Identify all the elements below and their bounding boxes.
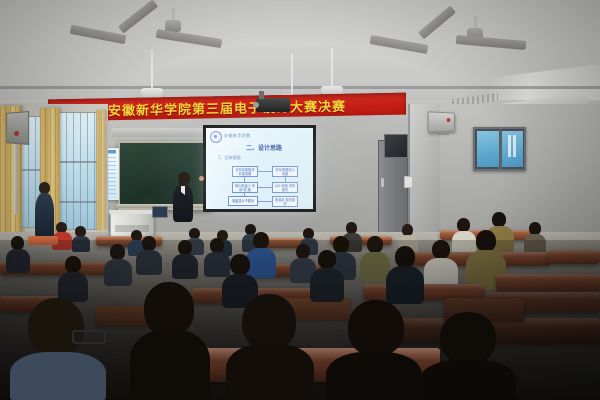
slide-block: 液晶显示子模块: [228, 196, 258, 206]
slide-arrow: [258, 201, 272, 202]
chalkboard: [118, 141, 213, 210]
slide-block: 电源及 稳压模块: [272, 196, 298, 207]
slide-surface: 安徽新华学院 二、设计思路 1、总体框图 信号采集模块 前端电路 信号调理放大电…: [206, 128, 313, 209]
slide-org-name: 安徽新华学院: [224, 133, 250, 139]
slide-title: 二、设计思路: [246, 143, 282, 152]
slide-arrow: [258, 187, 272, 188]
eyeglasses-icon: [72, 330, 106, 344]
door-window: [384, 134, 408, 158]
wall-speaker-bracket: [437, 131, 449, 135]
slide-block: 信号调理放大电路: [272, 166, 298, 177]
classroom-photo: 安徽新华学院第三届电子设计大赛决赛 安徽新华学院 二、设计思路 1、总体框图 信…: [0, 0, 600, 400]
slide-block: A/D 转换 采样模块: [272, 182, 298, 193]
foreground-attendee: [326, 300, 422, 400]
slide-arrow: [258, 171, 272, 172]
wall-pipe: [14, 144, 18, 214]
event-banner-text: 安徽新华学院第三届电子设计大赛决赛: [108, 95, 346, 119]
foreground-attendee: [10, 298, 106, 400]
presenter: [172, 172, 198, 222]
projection-screen: 安徽新华学院 二、设计思路 1、总体框图 信号采集模块 前端电路 信号调理放大电…: [203, 125, 316, 212]
door-handle[interactable]: [381, 178, 384, 187]
foreground-attendee: [226, 294, 314, 400]
slide-subtitle: 1、总体框图: [218, 155, 241, 161]
foreground-attendee: [130, 282, 210, 400]
slide-arrow: [244, 193, 245, 196]
projector-icon: [256, 98, 290, 112]
window-curtain: [96, 110, 106, 230]
podium-monitor: [152, 206, 168, 218]
wall-switch-plate[interactable]: [404, 176, 413, 188]
ceiling-fan-icon: [118, 18, 228, 40]
rear-window: [473, 127, 526, 171]
pendant-lamp-icon: [320, 48, 344, 100]
wall-speaker-icon: [428, 111, 455, 132]
standing-attendee-left: [34, 182, 56, 240]
slide-block: 单片机最小 系 统 电 路: [232, 182, 258, 193]
pendant-lamp-icon: [140, 50, 164, 102]
front-desk-left: [28, 236, 58, 245]
foreground-attendee: [420, 312, 516, 400]
left-window: [58, 112, 100, 230]
ceiling-fan-icon: [420, 26, 530, 48]
slide-arrow: [244, 177, 245, 182]
university-logo-icon: [210, 131, 222, 143]
wall-speaker-icon: [6, 111, 29, 145]
slide-block: 信号采集模块 前端电路: [232, 166, 258, 177]
slide-arrow: [285, 177, 286, 182]
